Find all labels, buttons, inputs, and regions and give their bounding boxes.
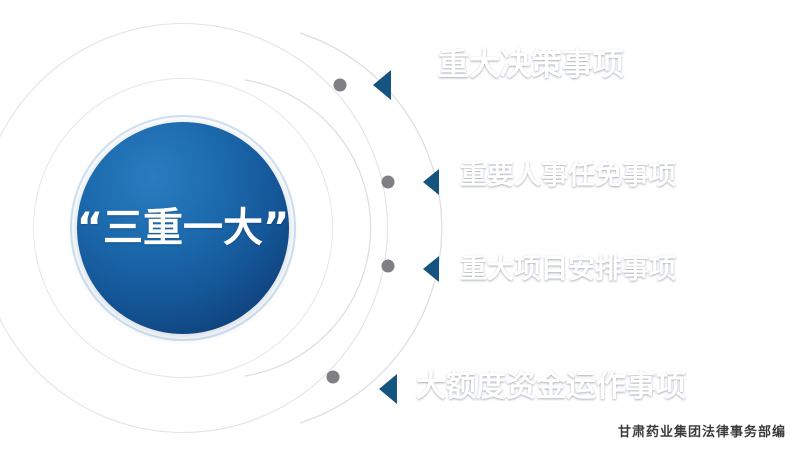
connector-dot-2 [382, 176, 395, 189]
callout-major-project[interactable]: 重大项目安排事项 [438, 239, 750, 293]
center-label: “三重一大” [77, 208, 290, 248]
callout-tail-icon [379, 374, 397, 404]
callout-large-capital[interactable]: 大额度资金运作事项 [396, 355, 720, 411]
connector-dot-3 [382, 260, 395, 273]
callout-tail-icon [423, 169, 439, 195]
callout-tail-icon [423, 256, 439, 282]
footer-credit: 甘肃药业集团法律事务部编 [618, 421, 786, 440]
callout-major-decision[interactable]: 重大决策事项 [390, 31, 708, 91]
callout-tail-icon [373, 70, 391, 100]
callout-key-personnel[interactable]: 重要人事任免事项 [438, 145, 750, 199]
callout-label: 重大项目安排事项 [460, 247, 676, 286]
callout-label: 重大决策事项 [438, 39, 624, 84]
callout-label: 大额度资金运作事项 [416, 361, 686, 405]
infographic-canvas: “三重一大” 重大决策事项重要人事任免事项重大项目安排事项大额度资金运作事项 甘… [0, 0, 800, 450]
callout-label: 重要人事任免事项 [460, 153, 676, 192]
connector-dot-4 [327, 371, 340, 384]
center-circle: “三重一大” [77, 122, 289, 334]
connector-dot-1 [334, 79, 347, 92]
